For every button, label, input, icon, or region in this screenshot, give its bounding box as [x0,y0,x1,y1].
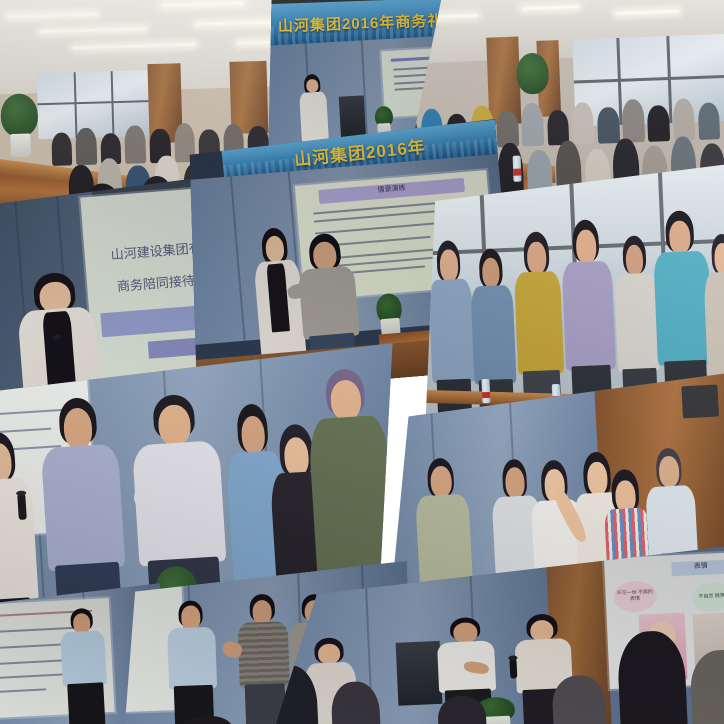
slide-heading-expression: 表情 [671,559,724,576]
presenter-light-blue [57,607,112,724]
slide-subtitle: 商务陪同接待 [116,270,195,295]
bubble-left: 不可一世 不屑的 表情 [613,580,657,613]
trainer-speaker [297,74,331,142]
bubble-right: 不自然 微笑 [691,582,724,612]
photo-collage: 山河集团2016年商务礼仪培训 [0,0,724,724]
slide-heading: 情景演练 [319,178,466,204]
